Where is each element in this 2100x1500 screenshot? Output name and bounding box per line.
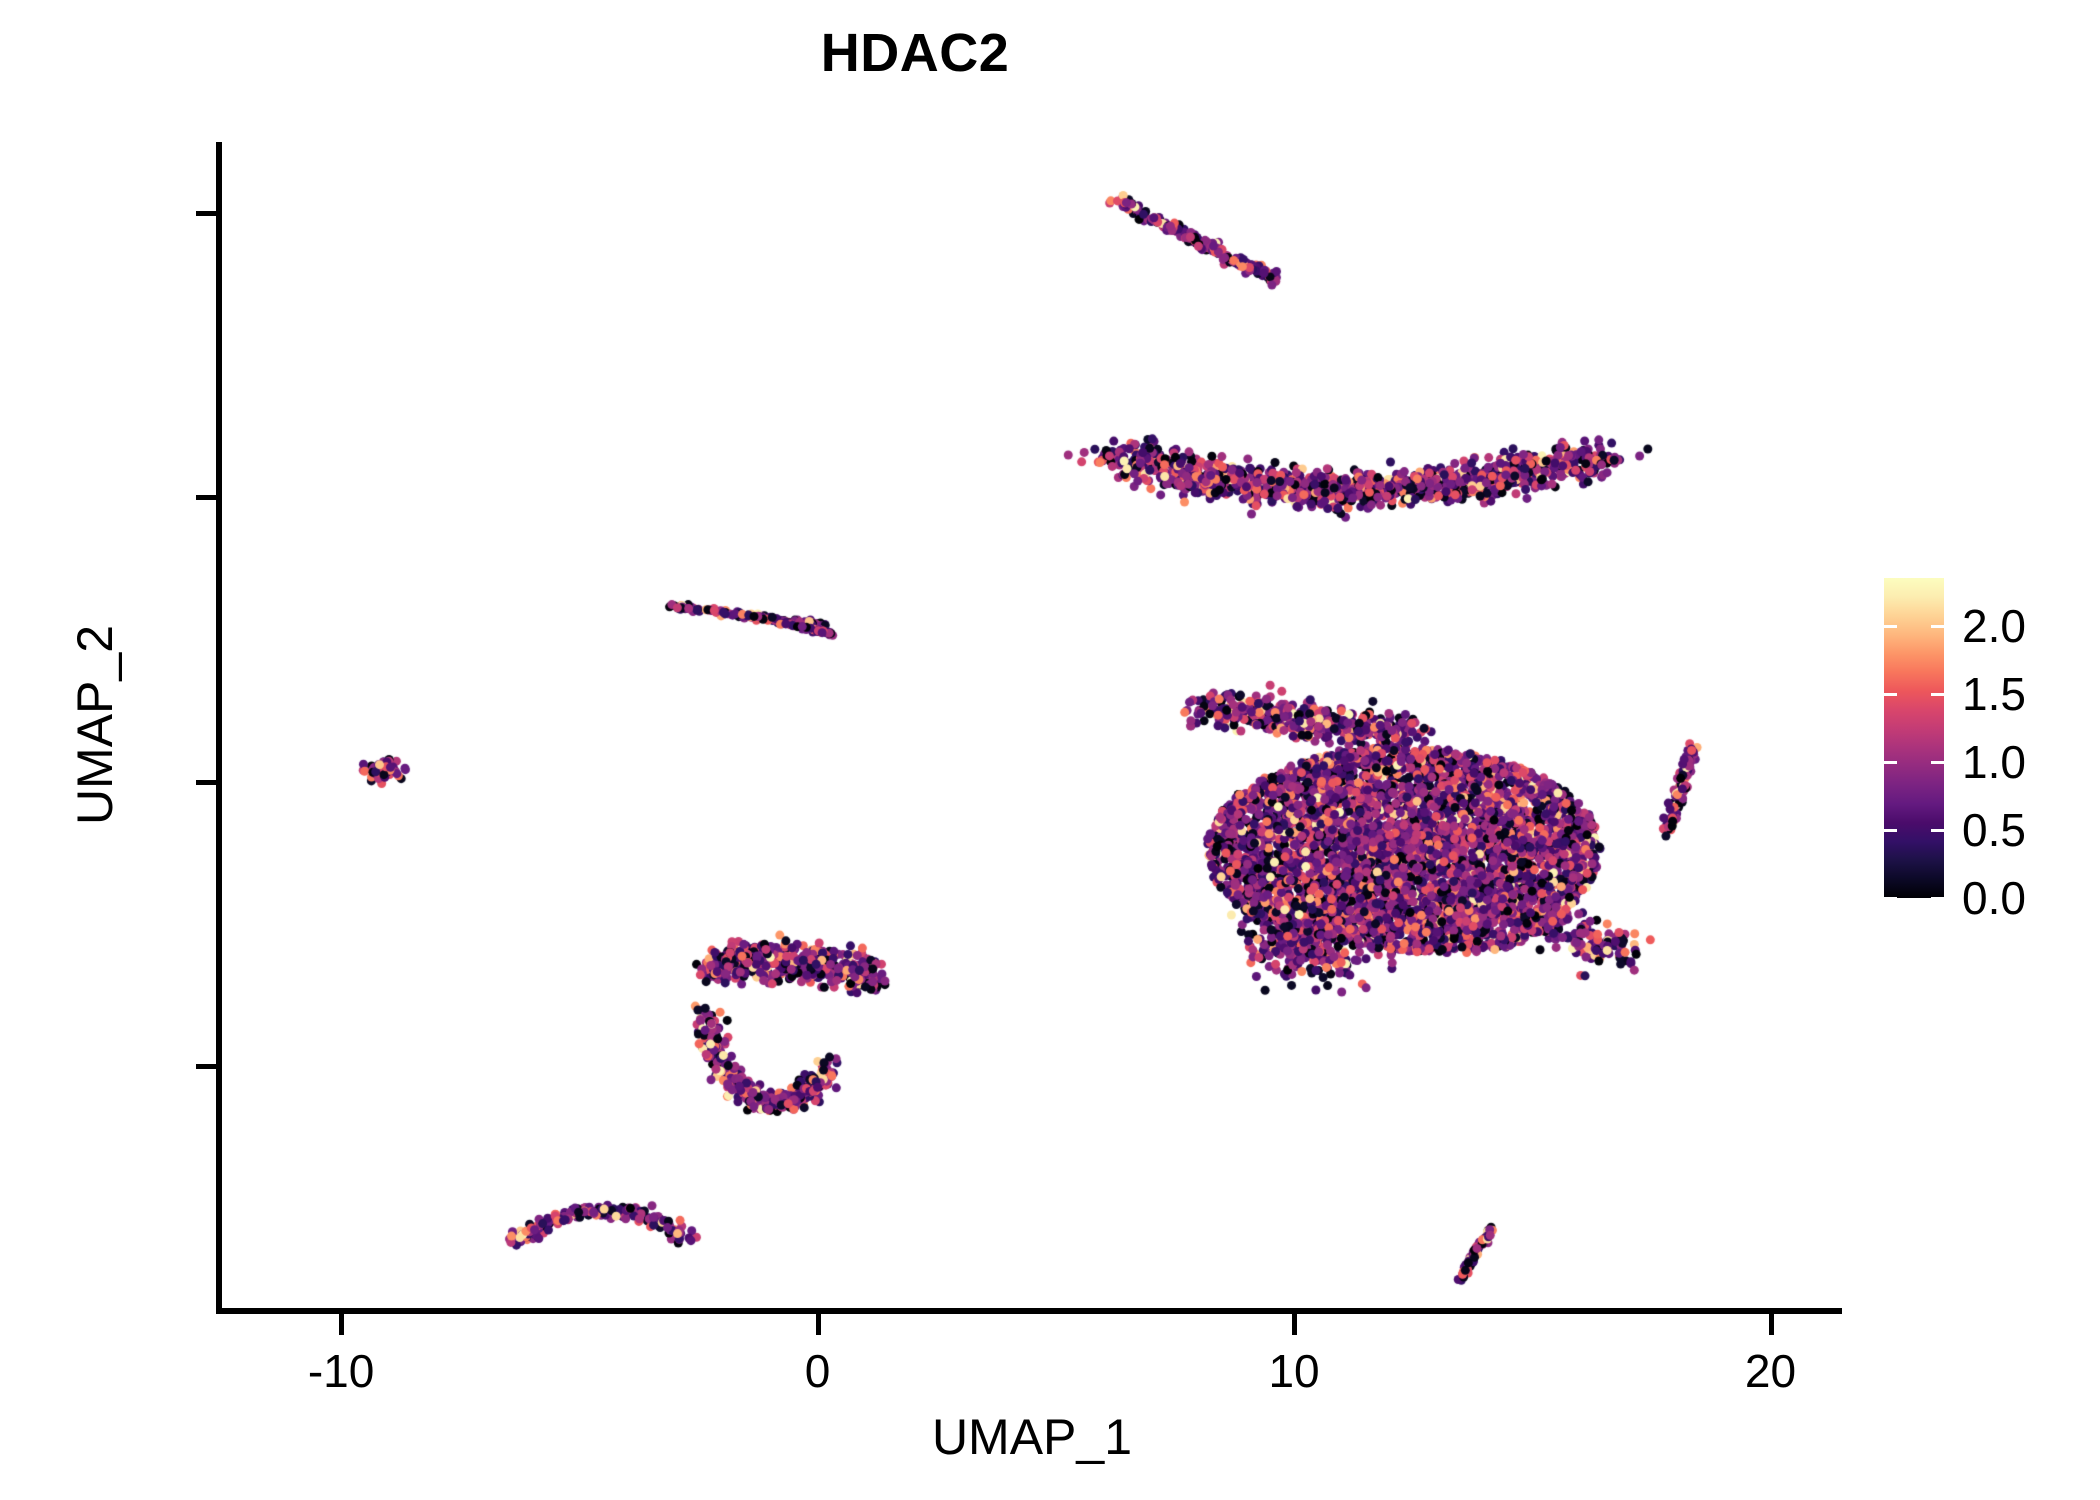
umap-feature-plot: HDAC2 20100-10 -1001020 UMAP_1 UMAP_2 0.… (0, 0, 2100, 1500)
x-axis-title: UMAP_1 (222, 1412, 1842, 1462)
x-tick-mark (339, 1313, 344, 1335)
colorbar-tick-mark (1931, 761, 1944, 764)
colorbar-label: 2.0 (1962, 603, 2100, 649)
colorbar-label: 0.0 (1962, 875, 2100, 921)
page-title: HDAC2 (0, 26, 1830, 80)
colorbar-tick-mark (1931, 625, 1944, 628)
colorbar-label: 1.5 (1962, 671, 2100, 717)
x-tick-mark (1769, 1313, 1774, 1335)
colorbar-tick-mark (1884, 829, 1897, 832)
x-tick-mark (816, 1313, 821, 1335)
plot-panel (222, 142, 1842, 1308)
y-axis-title: UMAP_2 (70, 275, 120, 1175)
x-tick-label: 0 (718, 1348, 918, 1394)
y-axis-line (216, 142, 222, 1314)
y-tick-mark (196, 780, 218, 785)
colorbar-label: 1.0 (1962, 739, 2100, 785)
colorbar-tick-mark (1884, 693, 1897, 696)
colorbar-tick-mark (1931, 829, 1944, 832)
x-axis-line (216, 1308, 1842, 1314)
x-tick-label: -10 (241, 1348, 441, 1394)
y-tick-mark (196, 211, 218, 216)
colorbar-tick-mark (1931, 897, 1944, 900)
y-tick-mark (196, 1064, 218, 1069)
colorbar-tick-mark (1884, 625, 1897, 628)
colorbar-tick-mark (1884, 897, 1897, 900)
y-tick-mark (196, 495, 218, 500)
x-tick-label: 10 (1194, 1348, 1394, 1394)
colorbar-tick-mark (1931, 693, 1944, 696)
scatter-points-canvas (222, 142, 1842, 1308)
colorbar-label: 0.5 (1962, 807, 2100, 853)
colorbar-legend: 0.00.51.01.52.0 (1884, 578, 2084, 902)
x-tick-mark (1292, 1313, 1297, 1335)
x-tick-label: 20 (1671, 1348, 1871, 1394)
colorbar-tick-mark (1884, 761, 1897, 764)
